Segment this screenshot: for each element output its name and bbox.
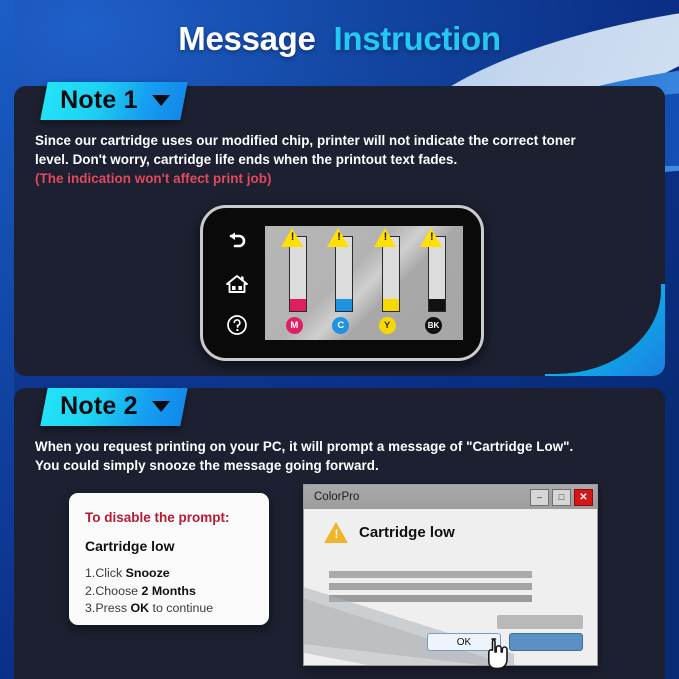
note-2-line-1: When you request printing on your PC, it… (35, 437, 665, 456)
step-3-num: 3. (85, 601, 95, 615)
toner-item: ! M (277, 236, 311, 334)
note-1-line-2: level. Don't worry, cartridge life ends … (35, 150, 665, 169)
step-3-bold: OK (130, 601, 149, 615)
hand-pointer-cursor (484, 637, 510, 676)
dialog-placeholder-lines (329, 571, 532, 607)
chevron-down-icon (152, 95, 170, 106)
note-1-badge[interactable]: Note 1 (40, 82, 187, 120)
instruction-card-heading: To disable the prompt: (85, 510, 253, 525)
step-3-post: to continue (149, 601, 213, 615)
toner-chip-bk: BK (425, 317, 442, 334)
toner-chip-m: M (286, 317, 303, 334)
toner-item: ! BK (417, 236, 451, 334)
step-2-bold: 2 Months (142, 584, 196, 598)
left-rail (0, 0, 14, 679)
instruction-card: To disable the prompt: Cartridge low 1.C… (69, 493, 269, 625)
step-2-num: 2. (85, 584, 95, 598)
dialog-footer: OK (304, 633, 597, 651)
toner-tube: ! (289, 236, 307, 312)
instruction-step-2: 2.Choose 2 Months (85, 583, 253, 601)
placeholder-line (329, 571, 532, 578)
toner-item: ! Y (370, 236, 404, 334)
warning-glyph: ! (291, 232, 295, 243)
warning-glyph: ! (337, 232, 341, 243)
close-icon[interactable]: ✕ (574, 489, 593, 506)
toner-fill (429, 299, 445, 311)
toner-fill (290, 299, 306, 311)
warning-glyph: ! (430, 232, 434, 243)
placeholder-line (329, 583, 532, 590)
secondary-button[interactable] (509, 633, 583, 651)
home-icon[interactable] (225, 271, 249, 295)
step-1-num: 1. (85, 566, 95, 580)
warning-triangle-icon: ! (324, 522, 348, 543)
note-2-text: When you request printing on your PC, it… (35, 437, 665, 475)
dialog-warning-glyph: ! (335, 528, 339, 540)
toner-gauge-list: ! M ! C (265, 226, 463, 340)
back-icon[interactable] (225, 229, 249, 253)
dialog-title-text: ColorPro (314, 491, 359, 503)
dialog-ghost-bar (497, 615, 583, 629)
printer-key-column (215, 220, 259, 346)
step-2-pre: Choose (95, 584, 141, 598)
printer-control-panel: ! M ! C (200, 205, 484, 361)
minimize-icon[interactable]: – (530, 489, 549, 506)
dialog-titlebar[interactable]: ColorPro – □ ✕ (304, 485, 597, 509)
toner-item: ! C (324, 236, 358, 334)
warning-triangle-icon: ! (327, 228, 349, 247)
page-title: Message Instruction (0, 20, 679, 58)
poster-root: Message Instruction Note 1 Since our car… (0, 0, 679, 679)
toner-fill (336, 299, 352, 311)
warning-triangle-icon: ! (281, 228, 303, 247)
warning-glyph: ! (384, 232, 388, 243)
toner-tube: ! (335, 236, 353, 312)
printer-screen: ! M ! C (265, 226, 463, 340)
note-1-line-3-red: (The indication won't affect print job) (35, 169, 665, 188)
maximize-icon[interactable]: □ (552, 489, 571, 506)
note-2-line-2: You could simply snooze the message goin… (35, 456, 665, 475)
instruction-step-1: 1.Click Snooze (85, 565, 253, 583)
chevron-down-icon (152, 401, 170, 412)
note-2-badge[interactable]: Note 2 (40, 388, 187, 426)
dialog-message-text: Cartridge low (359, 524, 455, 541)
placeholder-line (329, 595, 532, 602)
toner-chip-c: C (332, 317, 349, 334)
instruction-card-subheading: Cartridge low (85, 538, 253, 554)
note-1-text: Since our cartridge uses our modified ch… (35, 131, 665, 188)
window-buttons: – □ ✕ (530, 489, 593, 506)
note-2-badge-label: Note 2 (60, 394, 138, 419)
warning-triangle-icon: ! (374, 228, 396, 247)
toner-fill (383, 299, 399, 311)
warning-triangle-icon: ! (420, 228, 442, 247)
note-1-line-1: Since our cartridge uses our modified ch… (35, 131, 665, 150)
title-word-instruction: Instruction (334, 20, 501, 57)
help-icon[interactable] (225, 313, 249, 337)
toner-tube: ! (382, 236, 400, 312)
dialog-message-row: ! Cartridge low (304, 509, 597, 543)
step-1-pre: Click (95, 566, 125, 580)
note-1-badge-label: Note 1 (60, 88, 138, 113)
cartridge-low-dialog: ColorPro – □ ✕ ! Cartridge low (303, 484, 598, 666)
instruction-step-3: 3.Press OK to continue (85, 600, 253, 618)
toner-tube: ! (428, 236, 446, 312)
dialog-body: ! Cartridge low OK (304, 509, 597, 665)
step-3-pre: Press (95, 601, 130, 615)
step-1-bold: Snooze (126, 566, 170, 580)
toner-chip-y: Y (379, 317, 396, 334)
title-word-message: Message (178, 20, 315, 57)
